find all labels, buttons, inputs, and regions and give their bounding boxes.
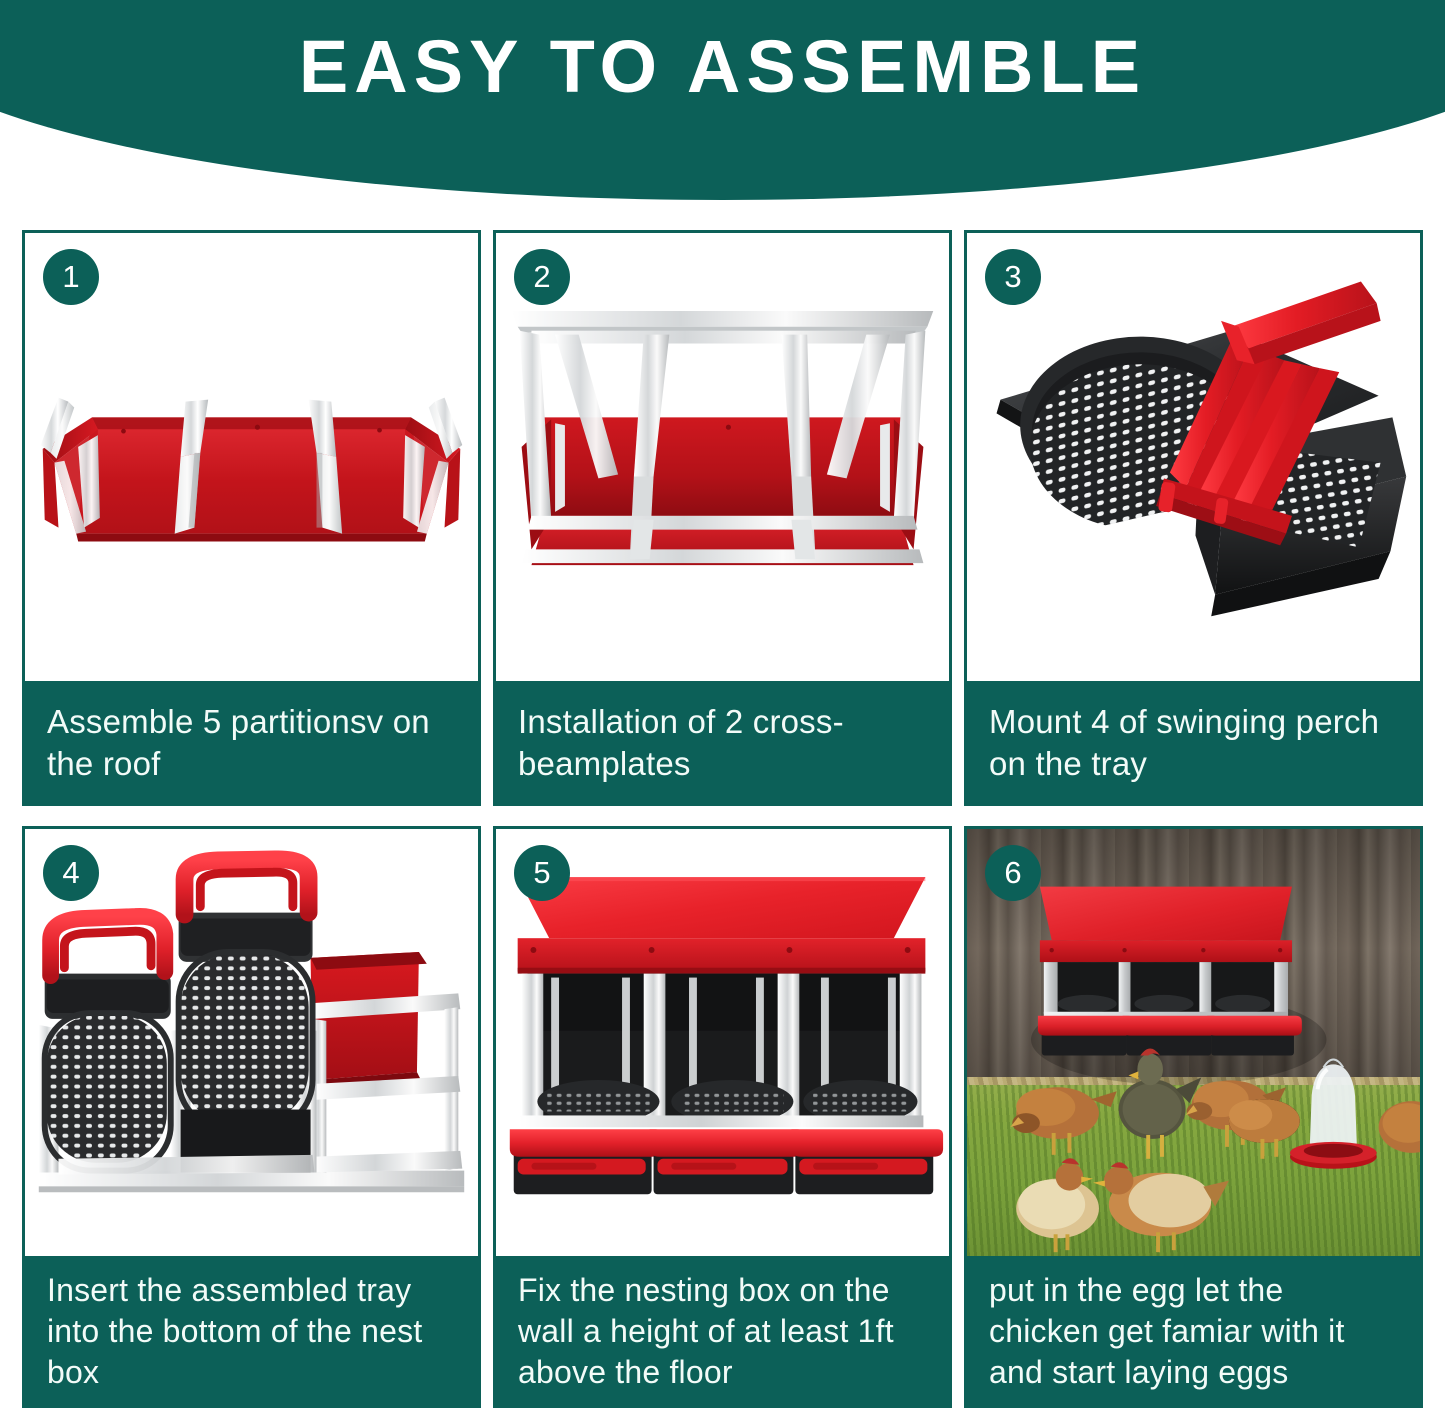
step-card-3[interactable]: 3 bbox=[964, 230, 1423, 806]
photo-nesting-box-with-chickens: 6 bbox=[967, 829, 1420, 1256]
step-number-badge-3: 3 bbox=[985, 249, 1041, 305]
chicken-5 bbox=[1016, 1158, 1099, 1252]
chicken-7 bbox=[1379, 1101, 1420, 1153]
step-5-figure: 5 bbox=[496, 829, 949, 1256]
roof-partitions-svg bbox=[25, 233, 478, 681]
step-card-2[interactable]: 2 bbox=[493, 230, 952, 806]
trays-in-frame-svg bbox=[25, 829, 478, 1256]
step-1-caption: Assemble 5 partitionsv on the roof bbox=[25, 681, 478, 803]
step-4-caption: Insert the assembled tray into the botto… bbox=[25, 1256, 478, 1405]
assembled-nest-box-svg bbox=[496, 829, 949, 1256]
step-2-caption: Installation of 2 cross-beamplates bbox=[496, 681, 949, 803]
step-2-figure: 2 bbox=[496, 233, 949, 681]
step-4-figure: 4 bbox=[25, 829, 478, 1256]
step-number-badge-1: 1 bbox=[43, 249, 99, 305]
illustration-roof-with-partitions bbox=[25, 233, 478, 681]
illustration-tray-with-swinging-perch bbox=[967, 233, 1420, 681]
tray-perch-svg bbox=[967, 233, 1420, 681]
step-card-4[interactable]: 4 bbox=[22, 826, 481, 1408]
frame-cross-beams-svg bbox=[496, 233, 949, 681]
illustration-frame-with-cross-beams bbox=[496, 233, 949, 681]
step-6-caption: put in the egg let the chicken get famia… bbox=[967, 1256, 1420, 1405]
step-1-figure: 1 bbox=[25, 233, 478, 681]
illustration-trays-inserted-in-frame bbox=[25, 829, 478, 1256]
photo-overlay-svg bbox=[967, 829, 1420, 1256]
step-card-6[interactable]: 6 put in the egg let the chicken get fam… bbox=[964, 826, 1423, 1408]
instruction-infographic: EASY TO ASSEMBLE 1 bbox=[0, 0, 1445, 1409]
poultry-waterer bbox=[1290, 1059, 1377, 1168]
header-banner: EASY TO ASSEMBLE bbox=[0, 0, 1445, 200]
step-number-badge-4: 4 bbox=[43, 845, 99, 901]
steps-grid: 1 bbox=[22, 230, 1423, 1408]
step-6-figure: 6 bbox=[967, 829, 1420, 1256]
chicken-4 bbox=[1229, 1099, 1300, 1159]
step-card-5[interactable]: 5 bbox=[493, 826, 952, 1408]
step-3-caption: Mount 4 of swinging perch on the tray bbox=[967, 681, 1420, 803]
step-number-badge-5: 5 bbox=[514, 845, 570, 901]
step-3-figure: 3 bbox=[967, 233, 1420, 681]
step-5-caption: Fix the nesting box on the wall a height… bbox=[496, 1256, 949, 1405]
step-number-badge-2: 2 bbox=[514, 249, 570, 305]
chicken-6 bbox=[1093, 1162, 1229, 1252]
page-title: EASY TO ASSEMBLE bbox=[0, 30, 1445, 104]
step-number-badge-6: 6 bbox=[985, 845, 1041, 901]
step-card-1[interactable]: 1 bbox=[22, 230, 481, 806]
illustration-assembled-nesting-box bbox=[496, 829, 949, 1256]
chicken-1 bbox=[1010, 1087, 1116, 1155]
